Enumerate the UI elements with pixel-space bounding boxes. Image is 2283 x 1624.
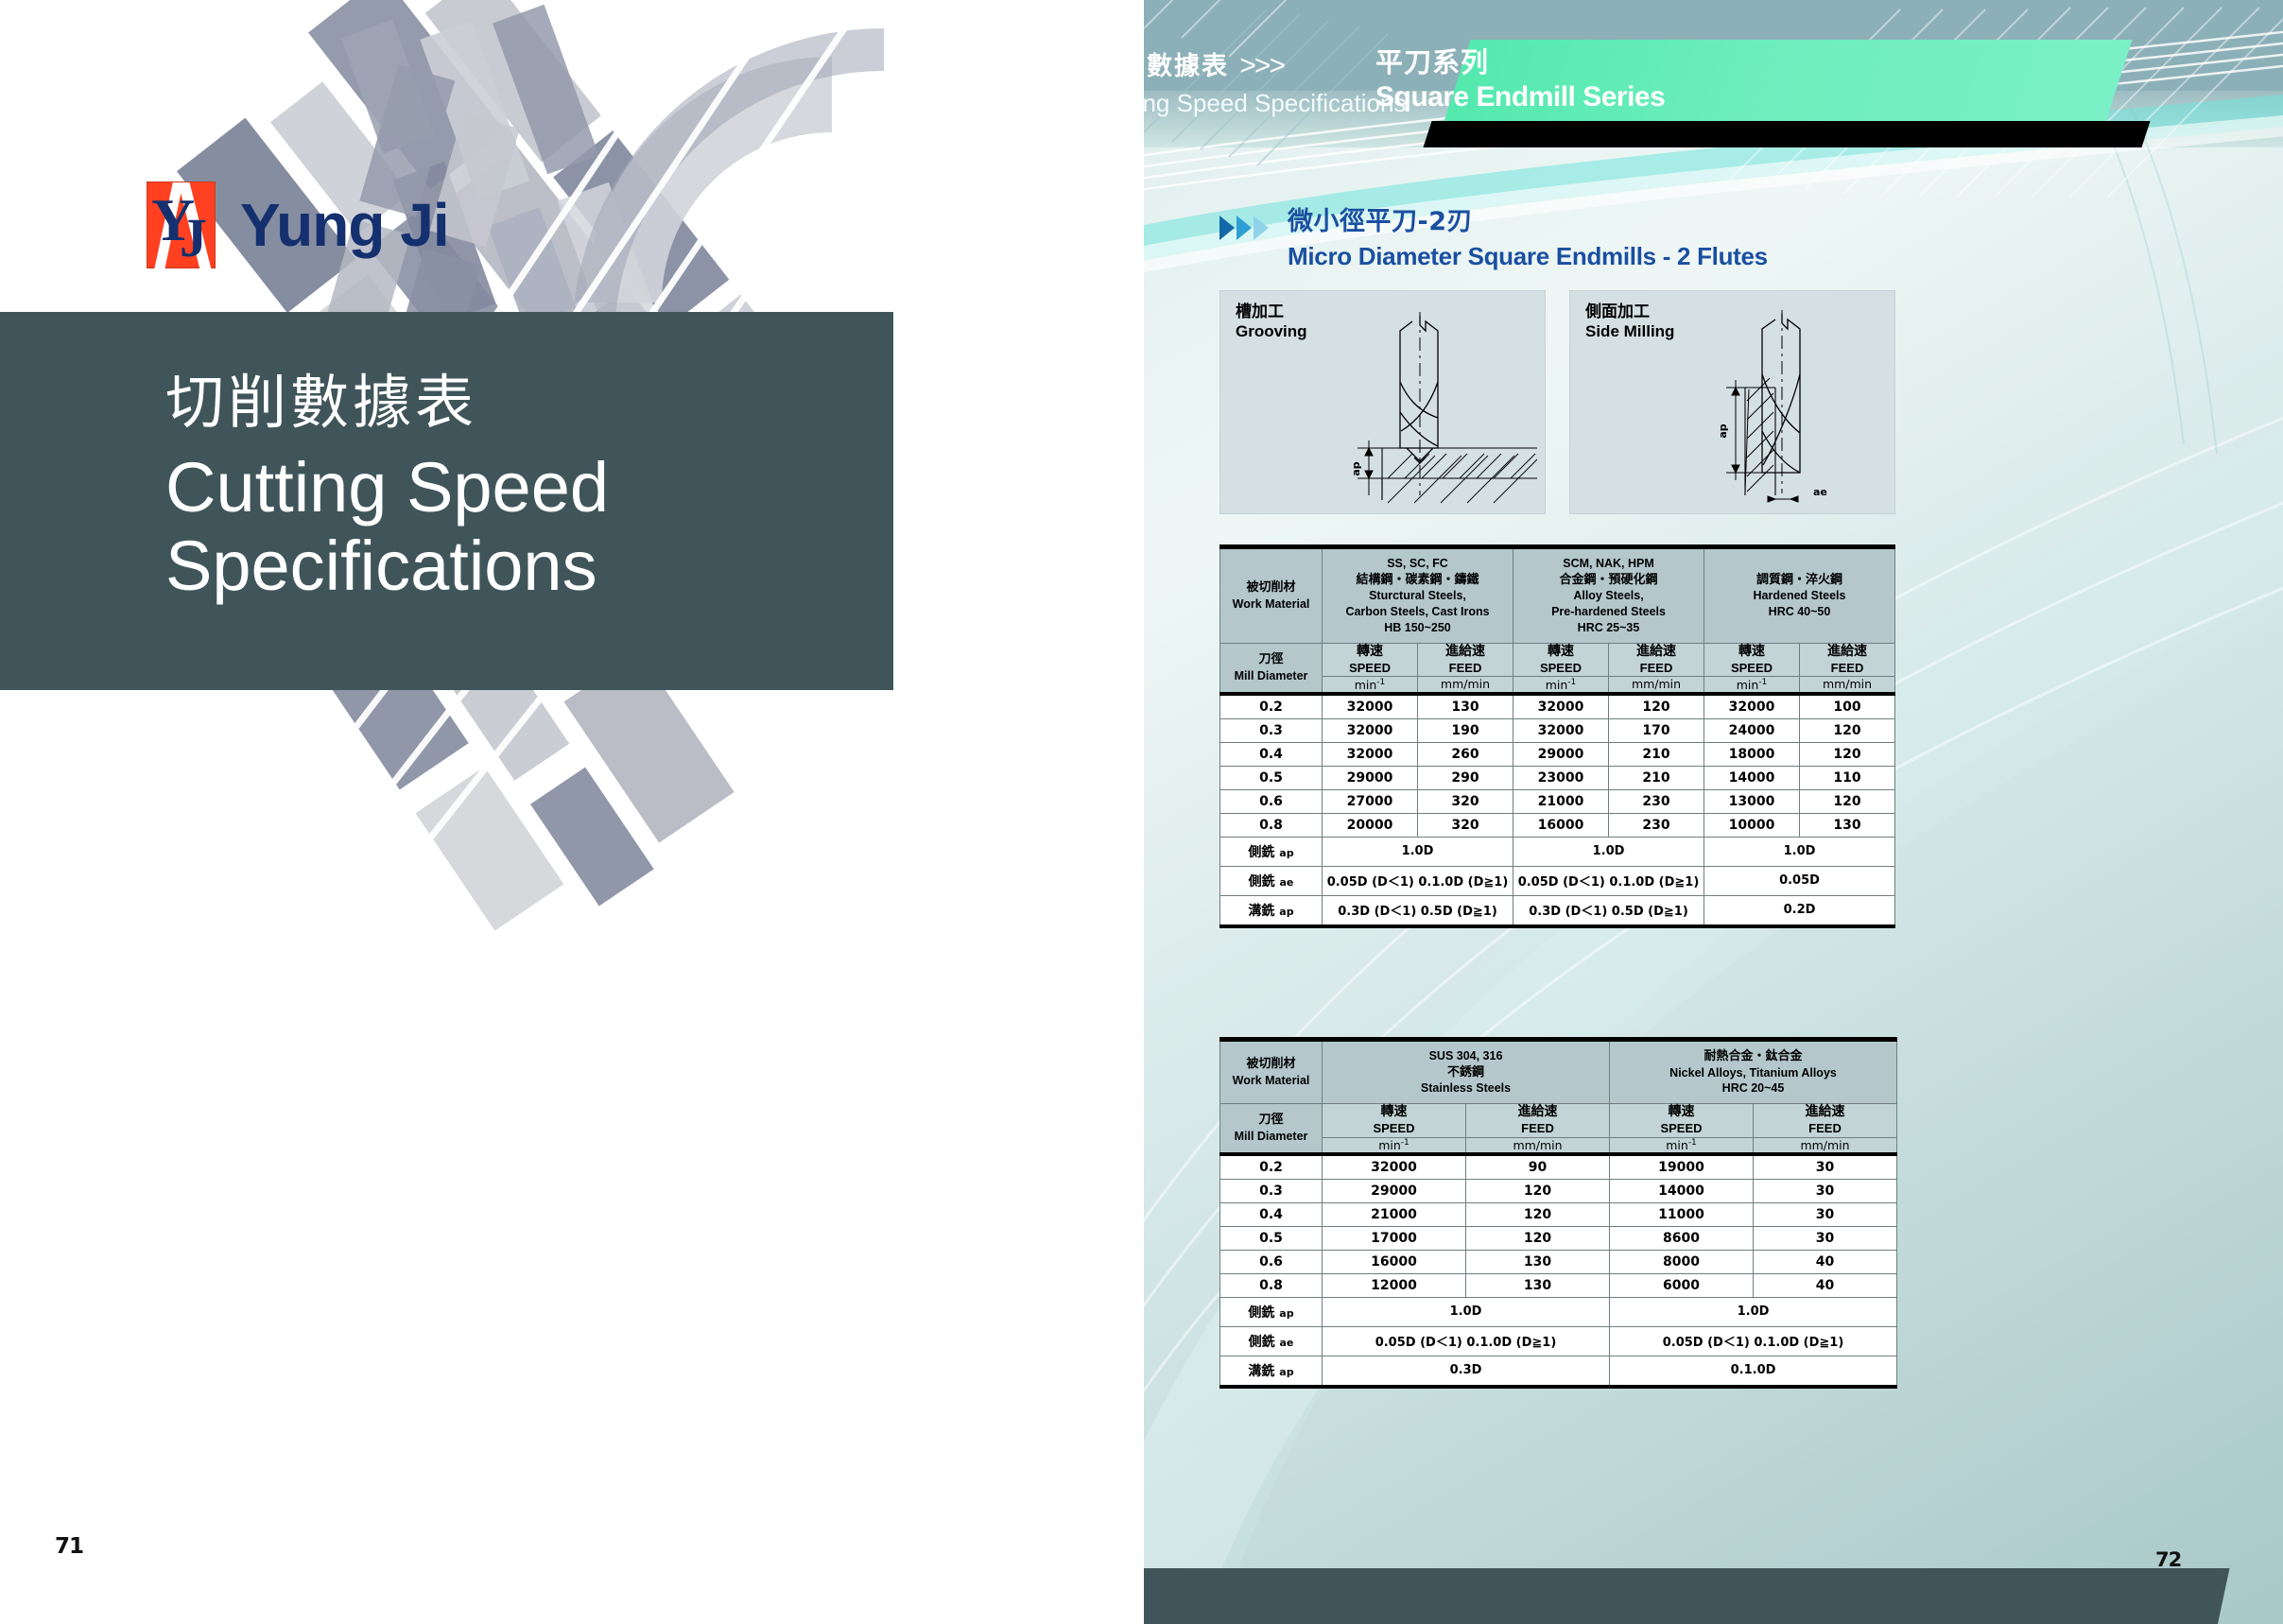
col-speed-2: 轉速 SPEED [1513,644,1609,677]
cell-value: 110 [1800,766,1895,789]
left-page: Y J Yung Ji 切削數據表 Cutting Speed Specific… [0,0,1144,1624]
cell-value: 32000 [1323,1154,1466,1180]
cell-value: 16000 [1513,813,1609,837]
cell-value: 30 [1754,1154,1897,1180]
cell-value: 10000 [1704,813,1800,837]
material-group-5: 耐熱合金・鈦合金 Nickel Alloys, Titanium Alloys … [1610,1040,1897,1104]
cell-mill-diameter: 0.6 [1220,1250,1323,1273]
cell-value: 32000 [1323,718,1418,742]
col-speed-1: 轉速 SPEED [1323,644,1418,677]
series-banner-underbar [1423,121,2150,147]
cell-value: 14000 [1704,766,1800,789]
left-title-cn: 切削數據表 [165,369,884,436]
cell-value: 6000 [1610,1273,1754,1297]
note-value: 0.1.0D [1610,1356,1897,1387]
cutting-data-table-1: 被切削材 Work Material SS, SC, FC 結構鋼・碳素鋼・鑄鐵… [1219,544,1895,928]
cell-value: 23000 [1513,766,1609,789]
left-title-en-line1: Cutting Speed [165,449,884,527]
logo-letter-j: J [180,211,214,269]
unit-speed-3: min-1 [1704,677,1800,694]
svg-text:ap: ap [1350,461,1362,475]
svg-text:ae: ae [1813,486,1827,498]
unit-feed-1: mm/min [1418,677,1513,694]
cell-value: 32000 [1323,742,1418,766]
left-title-panel: 切削數據表 Cutting Speed Specifications [0,312,893,690]
header-chevrons: >>> [1239,50,1284,81]
table-row: 0.2320001303200012032000100 [1220,694,1895,719]
cell-mill-diameter: 0.8 [1220,1273,1323,1297]
cell-value: 19000 [1610,1154,1754,1180]
table-row: 0.5290002902300021014000110 [1220,766,1895,789]
table-note-row: 溝銑 ap0.3D0.1.0D [1220,1356,1897,1387]
cell-value: 130 [1418,694,1513,719]
col-feed-1: 進給速 FEED [1418,644,1513,677]
cell-value: 16000 [1323,1250,1466,1273]
table-row: 0.4320002602900021018000120 [1220,742,1895,766]
cell-value: 18000 [1704,742,1800,766]
cell-value: 8000 [1610,1250,1754,1273]
table-note-row: 溝銑 ap0.3D (D＜1) 0.5D (D≧1)0.3D (D＜1) 0.5… [1220,895,1895,926]
table-row: 0.616000130800040 [1220,1250,1897,1273]
header-title-cn-text: 切削數據表 [1144,52,1229,81]
cell-value: 290 [1418,766,1513,789]
table-row-sub-header: 刀徑 Mill Diameter 轉速 SPEED 進給速 FEED 轉速 SP… [1220,644,1895,677]
note-value: 0.2D [1704,895,1895,926]
series-title-group: 平刀系列 Square Endmill Series [1375,45,1810,114]
section-heading: 微小徑平刀-2刃 Micro Diameter Square Endmills … [1219,206,1768,271]
note-value: 1.0D [1610,1297,1897,1326]
unit2-speed-1: min-1 [1323,1137,1466,1154]
table-row-material-header: 被切削材 Work Material SS, SC, FC 結構鋼・碳素鋼・鑄鐵… [1220,547,1895,644]
cell-value: 120 [1466,1179,1610,1202]
cell-value: 32000 [1323,694,1418,719]
cell-value: 21000 [1323,1202,1466,1226]
cell-mill-diameter: 0.6 [1220,789,1323,813]
page-number-right: 72 [2155,1548,2181,1571]
col2-speed-2: 轉速 SPEED [1610,1104,1754,1137]
cell-value: 260 [1418,742,1513,766]
side-milling-diagram-icon: ap ae [1651,306,1887,510]
table-note-row: 側銑 ap1.0D1.0D1.0D [1220,837,1895,866]
cell-value: 30 [1754,1179,1897,1202]
unit-speed-2: min-1 [1513,677,1609,694]
table-row: 0.517000120860030 [1220,1226,1897,1250]
cell-value: 230 [1609,813,1704,837]
table-row: 0.3320001903200017024000120 [1220,718,1895,742]
table-row: 0.232000901900030 [1220,1154,1897,1180]
cell-value: 29000 [1323,1179,1466,1202]
cell-mill-diameter: 0.5 [1220,766,1323,789]
cell-value: 320 [1418,789,1513,813]
figure-grooving-label: 槽加工 Grooving [1236,302,1307,342]
note-value: 0.3D (D＜1) 0.5D (D≧1) [1323,895,1513,926]
cell-value: 130 [1466,1250,1610,1273]
brand-name: Yung Ji [240,190,449,260]
cell-value: 190 [1418,718,1513,742]
cell-value: 210 [1609,742,1704,766]
cell-value: 27000 [1323,789,1418,813]
table2-row-units: min-1 mm/min min-1 mm/min [1220,1137,1897,1154]
note-value: 0.05D (D＜1) 0.1.0D (D≧1) [1323,866,1513,895]
cell-mill-diameter: 0.3 [1220,1179,1323,1202]
table-note-row: 側銑 ae0.05D (D＜1) 0.1.0D (D≧1)0.05D (D＜1)… [1220,866,1895,895]
note-value: 0.3D [1323,1356,1610,1387]
page-number-left: 71 [55,1534,83,1559]
series-title-cn: 平刀系列 [1375,45,1810,79]
table-row-units: min-1 mm/min min-1 mm/min min-1 mm/min [1220,677,1895,694]
cell-value: 17000 [1323,1226,1466,1250]
cell-value: 32000 [1704,694,1800,719]
material-group-3: 調質鋼・淬火鋼 Hardened Steels HRC 40~50 [1704,547,1895,644]
table-2-body: 0.2320009019000300.32900012014000300.421… [1220,1154,1897,1387]
cell-value: 90 [1466,1154,1610,1180]
cell-mill-diameter: 0.8 [1220,813,1323,837]
table-row: 0.4210001201100030 [1220,1202,1897,1226]
note-value: 1.0D [1704,837,1895,866]
cell-value: 14000 [1610,1179,1754,1202]
figure-grooving: 槽加工 Grooving [1219,290,1546,514]
unit-speed-1: min-1 [1323,677,1418,694]
cell-value: 130 [1800,813,1895,837]
section-title-en: Micro Diameter Square Endmills - 2 Flute… [1288,242,1768,271]
cell-value: 120 [1800,742,1895,766]
svg-text:ap: ap [1717,423,1729,438]
series-title-en: Square Endmill Series [1375,81,1810,114]
cell-mill-diameter: 0.4 [1220,1202,1323,1226]
section-chevrons-icon [1219,216,1269,240]
note-value: 0.05D (D＜1) 0.1.0D (D≧1) [1513,866,1704,895]
note-value: 0.05D [1704,866,1895,895]
note-value: 0.3D (D＜1) 0.5D (D≧1) [1513,895,1704,926]
brand-logo: Y J Yung Ji [147,181,449,268]
cell-value: 24000 [1704,718,1800,742]
cell-value: 170 [1609,718,1704,742]
unit-feed-3: mm/min [1800,677,1895,694]
figure-grooving-label-en: Grooving [1236,321,1307,341]
note-value: 0.05D (D＜1) 0.1.0D (D≧1) [1323,1326,1610,1356]
cell-value: 40 [1754,1250,1897,1273]
mill-diameter-header-2: 刀徑 Mill Diameter [1220,1104,1323,1154]
cell-value: 8600 [1610,1226,1754,1250]
col-speed-3: 轉速 SPEED [1704,644,1800,677]
table-note-row: 側銑 ap1.0D1.0D [1220,1297,1897,1326]
cell-value: 12000 [1323,1273,1466,1297]
col2-feed-2: 進給速 FEED [1754,1104,1897,1137]
cell-value: 120 [1466,1226,1610,1250]
material-group-1: SS, SC, FC 結構鋼・碳素鋼・鑄鐵 Sturctural Steels,… [1323,547,1513,644]
cell-value: 20000 [1323,813,1418,837]
note-label: 溝銑 ap [1220,1356,1323,1387]
cell-value: 13000 [1704,789,1800,813]
figure-side-milling: 側面加工 Side Milling [1569,290,1895,514]
note-value: 0.05D (D＜1) 0.1.0D (D≧1) [1610,1326,1897,1356]
table2-row-sub-header: 刀徑 Mill Diameter 轉速 SPEED 進給速 FEED 轉速 SP… [1220,1104,1897,1137]
mill-diameter-header: 刀徑 Mill Diameter [1220,644,1323,694]
note-value: 1.0D [1323,837,1513,866]
cell-value: 210 [1609,766,1704,789]
note-value: 1.0D [1513,837,1704,866]
left-title-en-line2: Specifications [165,527,884,606]
cell-mill-diameter: 0.3 [1220,718,1323,742]
table-note-row: 側銑 ae0.05D (D＜1) 0.1.0D (D≧1)0.05D (D＜1)… [1220,1326,1897,1356]
cell-value: 120 [1800,789,1895,813]
work-material-header-2: 被切削材 Work Material [1220,1040,1323,1104]
table-1-body: 0.23200013032000120320001000.33200019032… [1220,694,1895,926]
table-row: 0.8200003201600023010000130 [1220,813,1895,837]
table-row: 0.3290001201400030 [1220,1179,1897,1202]
cell-mill-diameter: 0.5 [1220,1226,1323,1250]
unit2-speed-2: min-1 [1610,1137,1754,1154]
cell-value: 120 [1609,694,1704,719]
cell-value: 230 [1609,789,1704,813]
col2-speed-1: 轉速 SPEED [1323,1104,1466,1137]
figure-grooving-label-cn: 槽加工 [1236,302,1307,321]
cell-value: 120 [1466,1202,1610,1226]
note-label: 側銑 ae [1220,1326,1323,1356]
cell-value: 40 [1754,1273,1897,1297]
cell-value: 30 [1754,1202,1897,1226]
table-row: 0.812000130600040 [1220,1273,1897,1297]
work-material-header: 被切削材 Work Material [1220,547,1323,644]
note-label: 側銑 ae [1220,866,1323,895]
col-feed-2: 進給速 FEED [1609,644,1704,677]
unit2-feed-1: mm/min [1466,1137,1610,1154]
col2-feed-1: 進給速 FEED [1466,1104,1610,1137]
cell-value: 320 [1418,813,1513,837]
table-row: 0.6270003202100023013000120 [1220,789,1895,813]
cell-value: 29000 [1513,742,1609,766]
cutting-data-table-2: 被切削材 Work Material SUS 304, 316 不銹鋼 Stai… [1219,1037,1897,1389]
cell-value: 29000 [1323,766,1418,789]
cell-value: 120 [1800,718,1895,742]
cell-value: 100 [1800,694,1895,719]
cell-value: 32000 [1513,718,1609,742]
material-group-4: SUS 304, 316 不銹鋼 Stainless Steels [1323,1040,1610,1104]
cell-value: 21000 [1513,789,1609,813]
note-label: 側銑 ap [1220,837,1323,866]
grooving-diagram-icon: ap [1301,306,1537,510]
unit-feed-2: mm/min [1609,677,1704,694]
col-feed-3: 進給速 FEED [1800,644,1895,677]
right-page: 切削數據表 >>> Cutting Speed Specifications 平… [1144,0,2283,1624]
section-title-cn: 微小徑平刀-2刃 [1288,206,1768,238]
cell-mill-diameter: 0.2 [1220,1154,1323,1180]
cell-value: 32000 [1513,694,1609,719]
cell-mill-diameter: 0.2 [1220,694,1323,719]
note-value: 1.0D [1323,1297,1610,1326]
right-footer-band [1144,1568,2230,1624]
cell-value: 130 [1466,1273,1610,1297]
material-group-2: SCM, NAK, HPM 合金鋼・預硬化鋼 Alloy Steels, Pre… [1513,547,1704,644]
note-label: 溝銑 ap [1220,895,1323,926]
cell-mill-diameter: 0.4 [1220,742,1323,766]
note-label: 側銑 ap [1220,1297,1323,1326]
unit2-feed-2: mm/min [1754,1137,1897,1154]
cell-value: 30 [1754,1226,1897,1250]
table2-row-material-header: 被切削材 Work Material SUS 304, 316 不銹鋼 Stai… [1220,1040,1897,1104]
cell-value: 11000 [1610,1202,1754,1226]
yungji-logo-mark: Y J [147,181,216,268]
